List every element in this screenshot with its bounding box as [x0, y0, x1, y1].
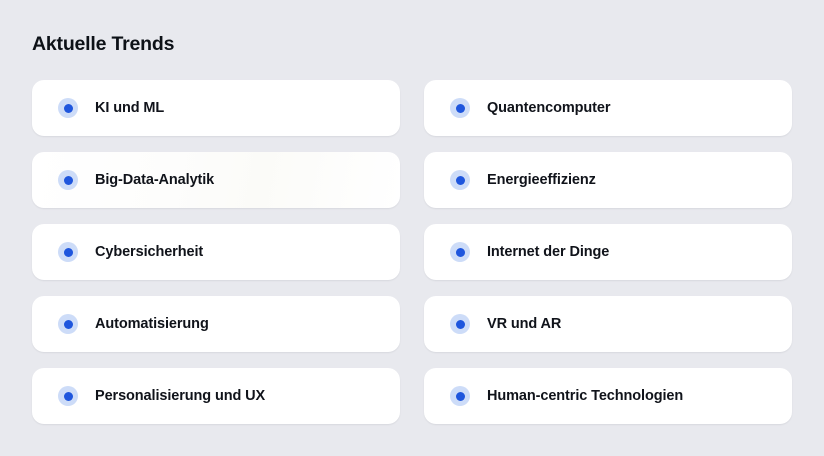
trend-card[interactable]: Energieeffizienz — [424, 152, 792, 208]
trend-card[interactable]: Personalisierung und UX — [32, 368, 400, 424]
trend-label: KI und ML — [95, 98, 164, 118]
bullet-dot-icon — [450, 242, 470, 262]
trend-label: Automatisierung — [95, 314, 209, 334]
bullet-dot-icon — [450, 170, 470, 190]
trend-label: VR und AR — [487, 314, 561, 334]
bullet-dot-icon — [450, 386, 470, 406]
trend-card[interactable]: KI und ML — [32, 80, 400, 136]
trend-card[interactable]: VR und AR — [424, 296, 792, 352]
trend-card[interactable]: Quantencomputer — [424, 80, 792, 136]
bullet-dot-icon — [58, 98, 78, 118]
trend-label: Personalisierung und UX — [95, 386, 265, 406]
trend-label: Internet der Dinge — [487, 242, 609, 262]
trend-card[interactable]: Human-centric Technologien — [424, 368, 792, 424]
trend-list: KI und ML Quantencomputer Big-Data-Analy… — [32, 80, 792, 424]
trend-label: Quantencomputer — [487, 98, 610, 118]
trends-page: Aktuelle Trends KI und ML Quantencompute… — [0, 0, 824, 456]
trend-card[interactable]: Cybersicherheit — [32, 224, 400, 280]
trend-label: Energieeffizienz — [487, 170, 596, 190]
trend-label: Human-centric Technologien — [487, 386, 683, 406]
bullet-dot-icon — [58, 242, 78, 262]
trend-label: Big-Data-Analytik — [95, 170, 214, 190]
trend-card[interactable]: Big-Data-Analytik — [32, 152, 400, 208]
trend-label: Cybersicherheit — [95, 242, 203, 262]
trend-card[interactable]: Internet der Dinge — [424, 224, 792, 280]
trend-card[interactable]: Automatisierung — [32, 296, 400, 352]
bullet-dot-icon — [450, 314, 470, 334]
bullet-dot-icon — [58, 170, 78, 190]
bullet-dot-icon — [58, 386, 78, 406]
page-title: Aktuelle Trends — [32, 31, 174, 57]
bullet-dot-icon — [58, 314, 78, 334]
bullet-dot-icon — [450, 98, 470, 118]
